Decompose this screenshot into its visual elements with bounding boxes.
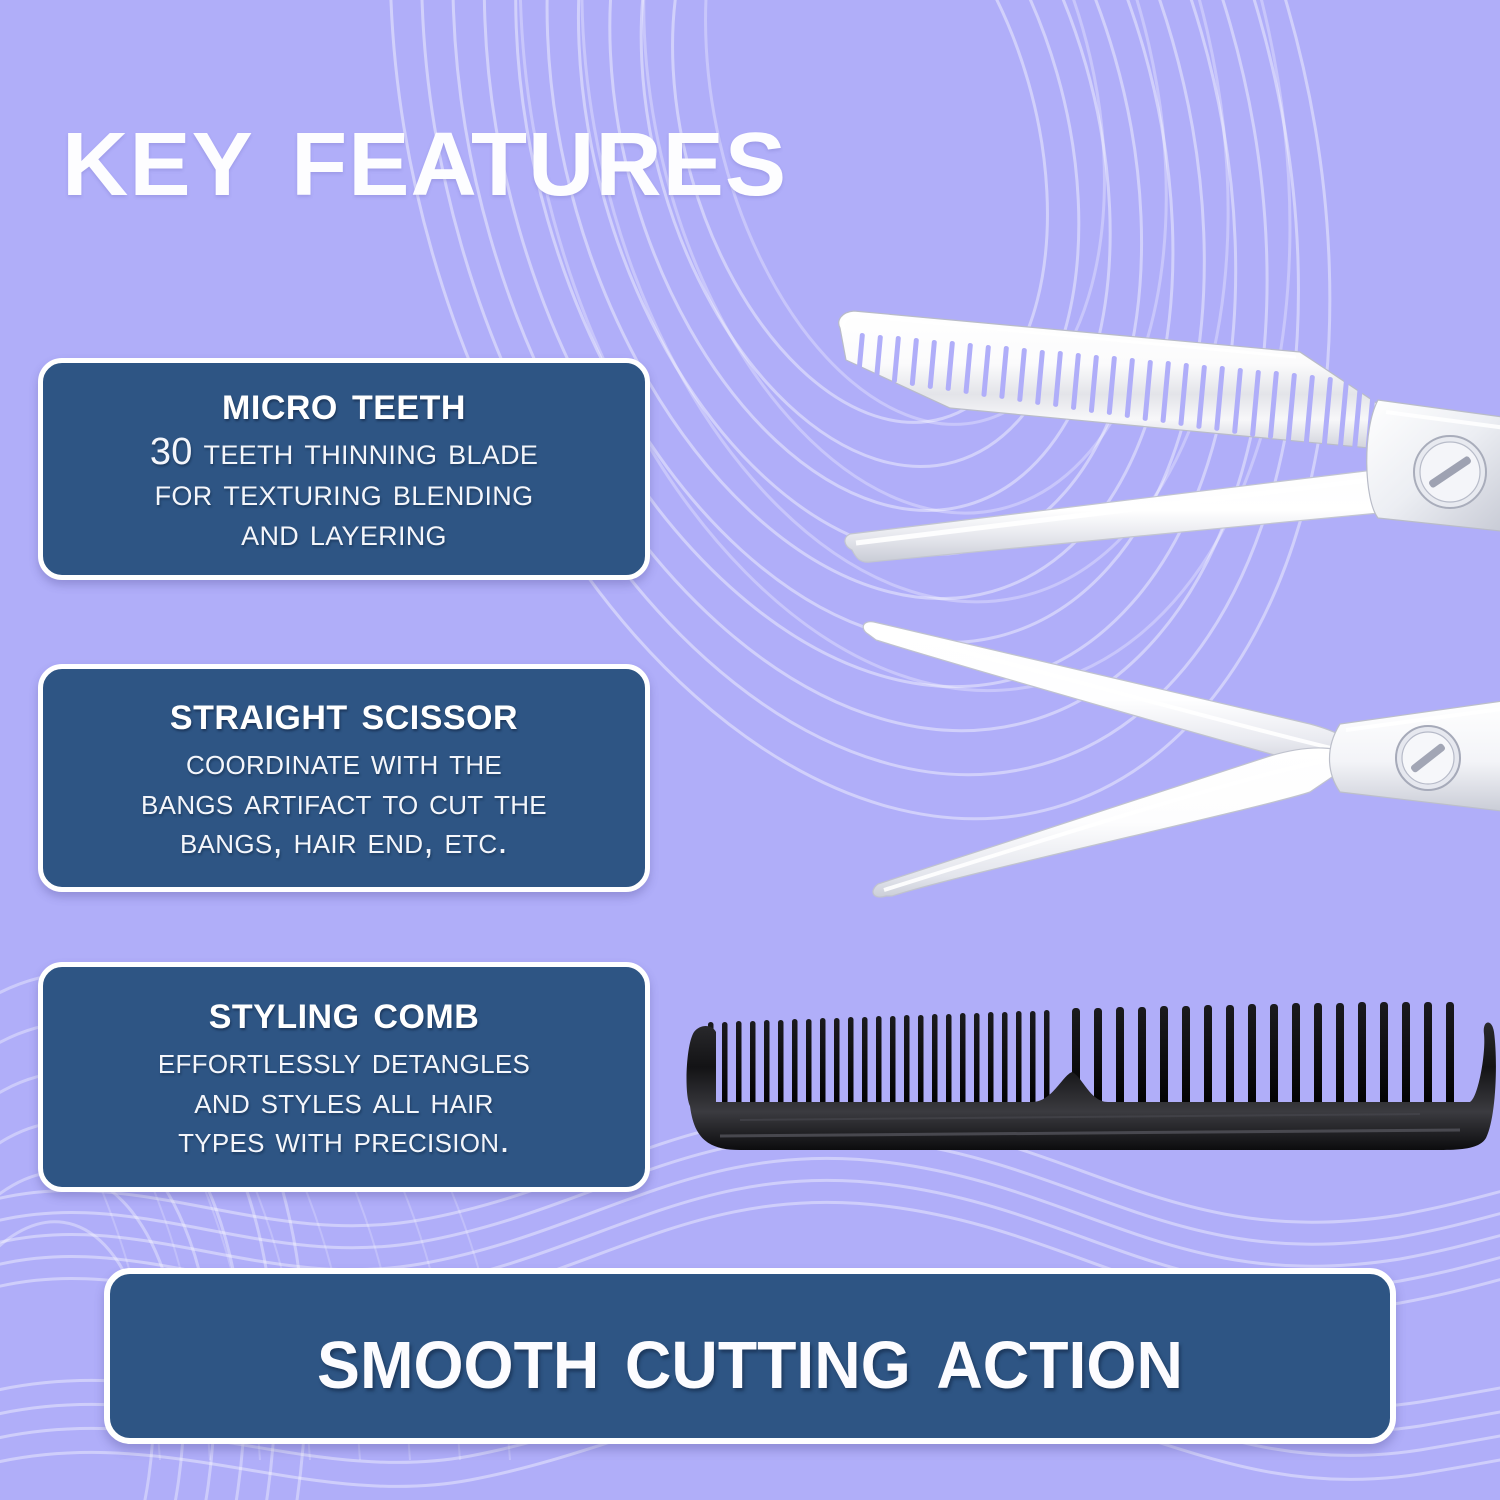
comb-fine-teeth [708,1010,1050,1114]
feature-body-line: and layering [150,513,538,554]
straight-scissor-image [840,596,1500,936]
straight-scissor-pivot [1330,700,1500,812]
feature-body-line: bangs, hair end, etc. [141,821,547,861]
feature-card-micro-teeth: Micro Teeth 30 teeth Thinning Blade For … [38,358,650,580]
thinning-shears-pivot [1367,400,1500,532]
feature-title-micro-teeth: Micro Teeth [222,378,466,430]
comb-spine [687,1022,1496,1150]
comb-wide-teeth [1072,1002,1454,1115]
thinning-shears-image [830,300,1500,630]
feature-body-straight-scissor: Coordinate with the bangs artifact to cu… [141,742,547,861]
feature-title-straight-scissor: Straight Scissor [170,689,518,740]
feature-body-line: For texturing blending [150,473,538,514]
feature-body-line: bangs artifact to cut the [141,782,547,822]
thinning-blade-toothed [839,311,1390,453]
smooth-cutting-action-banner: Smooth Cutting Action [104,1268,1396,1444]
feature-body-line: Effortlessly detangles [158,1041,530,1081]
feature-title-styling-comb: Styling Comb [209,988,480,1039]
styling-comb-image [680,998,1500,1178]
feature-body-micro-teeth: 30 teeth Thinning Blade For texturing bl… [150,432,538,554]
feature-card-styling-comb: Styling Comb Effortlessly detangles and … [38,962,650,1192]
scissor-blade-upper [863,622,1364,764]
feature-card-straight-scissor: Straight Scissor Coordinate with the ban… [38,664,650,892]
key-features-poster: Key Features Micro Teeth 30 teeth Thinni… [0,0,1500,1500]
feature-body-line: 30 teeth Thinning Blade [150,432,538,473]
feature-body-line: Coordinate with the [141,742,547,782]
feature-body-line: types with precision. [158,1120,530,1160]
scissor-blade-lower [873,748,1360,897]
banner-text: Smooth Cutting Action [317,1301,1183,1411]
feature-body-styling-comb: Effortlessly detangles and styles all ha… [158,1041,530,1160]
page-title: Key Features [62,88,787,216]
feature-body-line: and styles all hair [158,1081,530,1121]
thinning-blade-straight [845,468,1390,562]
